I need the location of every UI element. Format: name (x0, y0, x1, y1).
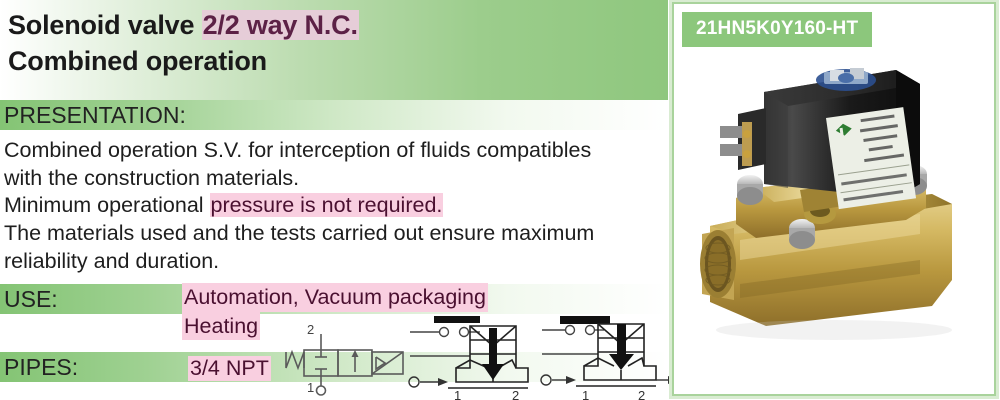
pipes-value: 3/4 NPT (188, 356, 271, 381)
iso-valve-symbol-diagram: 2 1 (282, 322, 407, 400)
title-banner: Solenoid valve 2/2 way N.C. Combined ope… (0, 0, 668, 100)
use-value-line-1: Automation, Vacuum packaging (182, 283, 488, 312)
coil-rating-label (826, 107, 916, 209)
iso-symbol-port-2-label: 2 (307, 322, 314, 337)
page-title: Solenoid valve 2/2 way N.C. Combined ope… (8, 8, 359, 80)
presentation-line-3: Minimum operational pressure is not requ… (4, 192, 668, 220)
presentation-body: Combined operation S.V. for interception… (4, 137, 668, 276)
presentation-line-1: Combined operation S.V. for interception… (4, 137, 668, 165)
product-panel: 21HN5K0Y160-HT (672, 2, 996, 396)
product-code-badge: 21HN5K0Y160-HT (682, 12, 872, 47)
iso-symbol-port-1-label: 1 (307, 380, 314, 395)
presentation-line-5: reliability and duration. (4, 248, 668, 276)
presentation-line-2: with the construction materials. (4, 165, 668, 193)
title-highlight-text: 2/2 way N.C. (202, 10, 359, 40)
open-port-2-label: 2 (638, 388, 645, 400)
title-line-2: Combined operation (8, 44, 359, 80)
datasheet-page: Solenoid valve 2/2 way N.C. Combined ope… (0, 0, 1000, 400)
closed-port-1-label: 1 (454, 388, 461, 400)
use-label: USE: (4, 284, 58, 314)
title-line-1: Solenoid valve 2/2 way N.C. (8, 8, 359, 44)
closed-port-2-label: 2 (512, 388, 519, 400)
cross-section-open-diagram: 1 2 (538, 310, 678, 400)
cross-section-closed-diagram: 1 2 (404, 310, 539, 400)
title-plain-text: Solenoid valve (8, 10, 202, 40)
presentation-line-3-highlight: pressure is not required. (210, 193, 444, 217)
presentation-line-3-plain: Minimum operational (4, 193, 210, 217)
use-value-line-2: Heating (182, 312, 260, 341)
left-column: Solenoid valve 2/2 way N.C. Combined ope… (0, 0, 668, 400)
pipes-label: PIPES: (4, 352, 78, 382)
presentation-label: PRESENTATION: (4, 100, 186, 130)
presentation-line-4: The materials used and the tests carried… (4, 220, 668, 248)
open-port-1-label: 1 (582, 388, 589, 400)
product-photo (674, 48, 994, 394)
